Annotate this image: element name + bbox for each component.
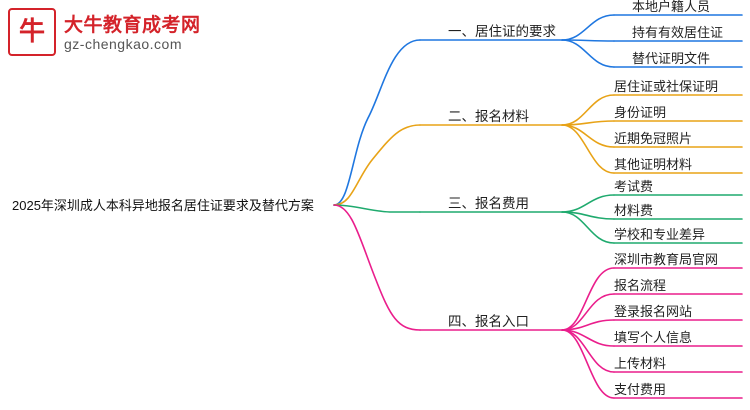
mindmap-leaf-2-4[interactable]: 其他证明材料 — [614, 157, 692, 173]
mindmap-leaf-1-1[interactable]: 本地户籍人员 — [632, 0, 710, 15]
logo-mark-icon: 牛 — [8, 8, 56, 56]
mindmap-leaf-2-2[interactable]: 身份证明 — [614, 105, 666, 121]
mindmap-leaf-4-4[interactable]: 填写个人信息 — [614, 330, 692, 346]
mindmap-branch-1-label[interactable]: 一、居住证的要求 — [448, 24, 556, 40]
mindmap-leaf-3-1[interactable]: 考试费 — [614, 179, 653, 195]
mindmap-leaf-4-1[interactable]: 深圳市教育局官网 — [614, 252, 718, 268]
logo-mark-glyph: 牛 — [19, 19, 45, 45]
mindmap-root-label[interactable]: 2025年深圳成人本科异地报名居住证要求及替代方案 — [12, 198, 314, 214]
logo-subtitle: gz-chengkao.com — [64, 36, 182, 52]
mindmap-leaf-1-2[interactable]: 持有有效居住证 — [632, 25, 723, 41]
logo-title: 大牛教育成考网 — [64, 10, 201, 37]
mindmap-leaf-1-3[interactable]: 替代证明文件 — [632, 51, 710, 67]
mindmap-leaf-4-5[interactable]: 上传材料 — [614, 356, 666, 372]
mindmap-leaf-4-2[interactable]: 报名流程 — [614, 278, 666, 294]
mindmap-canvas: 牛 大牛教育成考网 gz-chengkao.com — [0, 0, 750, 410]
mindmap-leaf-3-2[interactable]: 材料费 — [614, 203, 653, 219]
mindmap-branch-2-label[interactable]: 二、报名材料 — [448, 109, 529, 125]
site-logo: 牛 大牛教育成考网 gz-chengkao.com — [8, 8, 198, 60]
mindmap-leaf-3-3[interactable]: 学校和专业差异 — [614, 227, 705, 243]
mindmap-branch-4-label[interactable]: 四、报名入口 — [448, 314, 529, 330]
mindmap-leaf-2-1[interactable]: 居住证或社保证明 — [614, 79, 718, 95]
mindmap-leaf-2-3[interactable]: 近期免冠照片 — [614, 131, 692, 147]
mindmap-leaf-4-6[interactable]: 支付费用 — [614, 382, 666, 398]
mindmap-leaf-4-3[interactable]: 登录报名网站 — [614, 304, 692, 320]
mindmap-branch-3-label[interactable]: 三、报名费用 — [448, 196, 529, 212]
